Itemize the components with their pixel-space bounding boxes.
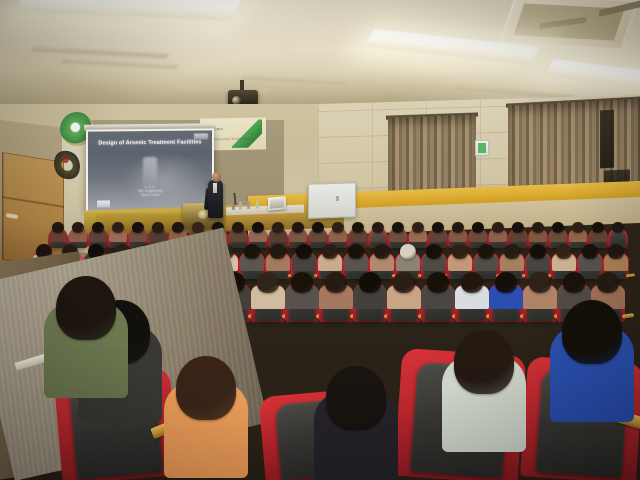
audience-member-head — [552, 222, 564, 233]
audience-member-head — [432, 222, 444, 233]
audience-member-head — [461, 272, 483, 293]
audience-member-head — [512, 222, 524, 233]
audience-member-head — [592, 222, 604, 233]
audience-member-head — [52, 222, 64, 233]
slide-credit-line-3: Seoul, Korea — [98, 193, 202, 198]
person-ponytail-orange-head — [176, 356, 236, 420]
wreath-accent — [62, 156, 69, 163]
audience-member-head — [296, 244, 312, 259]
audience-member-head — [112, 222, 124, 233]
seat-armrest — [622, 314, 634, 319]
audience-member-head — [312, 222, 324, 233]
audience-member-head — [492, 222, 504, 233]
projection-screen: Design of Arsenic Treatment Facilities U… — [88, 130, 212, 210]
audience-member-head — [495, 272, 517, 293]
slide-figure-graphic — [143, 157, 157, 185]
audience-member-head — [252, 222, 264, 233]
whiteboard — [308, 182, 356, 219]
audience-member-head — [532, 222, 544, 233]
audience-member-head — [572, 222, 584, 233]
audience-member-head — [608, 244, 624, 259]
audience-member-head — [172, 222, 184, 233]
audience-member-head — [504, 244, 520, 259]
person-left-green-head — [56, 276, 116, 340]
audience-member-head — [582, 244, 598, 259]
slide-credit-block: U. S. A. ABC Engineering Seoul, Korea — [98, 184, 202, 198]
audience-member-head — [72, 222, 84, 233]
audience-member-head — [374, 244, 390, 259]
audience-member-head — [152, 222, 164, 233]
audience-member-head — [478, 244, 494, 259]
photograph-lecture-hall: Welcome Environmental Engineering Design… — [0, 0, 640, 480]
presenter-head — [212, 172, 221, 182]
audience-member-head — [292, 222, 304, 233]
audience-member-head — [272, 222, 284, 233]
audience-member-head — [257, 272, 279, 293]
audience-member-head — [325, 272, 347, 293]
audience-member-head — [530, 244, 546, 259]
audience-member-head — [412, 222, 424, 233]
window-gap — [600, 110, 614, 169]
person-black-top-head — [326, 366, 386, 430]
audience-member-head — [393, 272, 415, 293]
audience-member-head — [563, 272, 585, 293]
audience-member-head — [332, 222, 344, 233]
audience-member-head — [529, 272, 551, 293]
audience-member-head — [291, 272, 313, 293]
audience-member-head — [244, 244, 260, 259]
audience-member-head — [472, 222, 484, 233]
audience-member-head — [597, 272, 619, 293]
slide-logo-icon — [97, 200, 110, 207]
audience-member-head — [322, 244, 338, 259]
audience-member-head — [452, 222, 464, 233]
person-plaid-head — [454, 330, 514, 394]
audience-member-head — [452, 244, 468, 259]
seat-armrest — [626, 274, 635, 278]
audience-member-head — [427, 272, 449, 293]
audience-member-head — [92, 222, 104, 233]
slide-title: Design of Arsenic Treatment Facilities — [94, 139, 206, 146]
audience-member-head — [270, 244, 286, 259]
audience-member-head — [426, 244, 442, 259]
whiteboard-mark — [336, 196, 339, 201]
audience-member-head — [232, 222, 244, 233]
audience-member-head — [352, 222, 364, 233]
audience-member-head — [359, 272, 381, 293]
person-blue-top-head — [562, 300, 622, 364]
wall-sign-icon — [475, 140, 489, 156]
audience-member-head — [348, 244, 364, 259]
audience-member-head — [556, 244, 572, 259]
audience-member-head — [132, 222, 144, 233]
audience-member-head — [400, 244, 416, 259]
lectern-emblem — [198, 210, 208, 219]
audience-member-head — [612, 222, 624, 233]
audience-member-head — [392, 222, 404, 233]
presenter-shirt — [213, 183, 217, 193]
audience-member-head — [372, 222, 384, 233]
laptop-screen — [270, 198, 284, 208]
